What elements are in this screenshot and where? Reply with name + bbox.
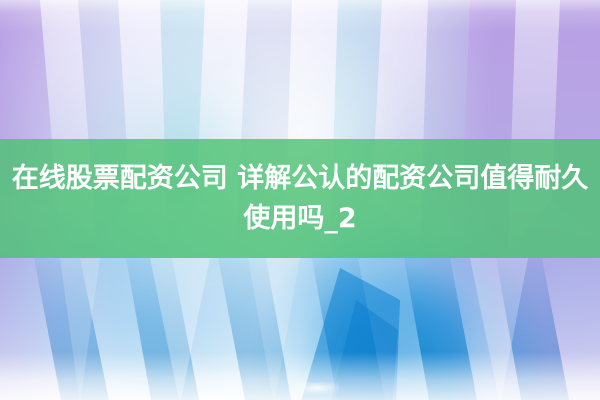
banner-title-text: 在线股票配资公司 详解公认的配资公司值得耐久使用吗_2 xyxy=(0,159,600,239)
background-light-artifact xyxy=(295,382,339,394)
banner-image: 在线股票配资公司 详解公认的配资公司值得耐久使用吗_2 xyxy=(0,0,600,400)
title-banner-band: 在线股票配资公司 详解公认的配资公司值得耐久使用吗_2 xyxy=(0,139,600,258)
